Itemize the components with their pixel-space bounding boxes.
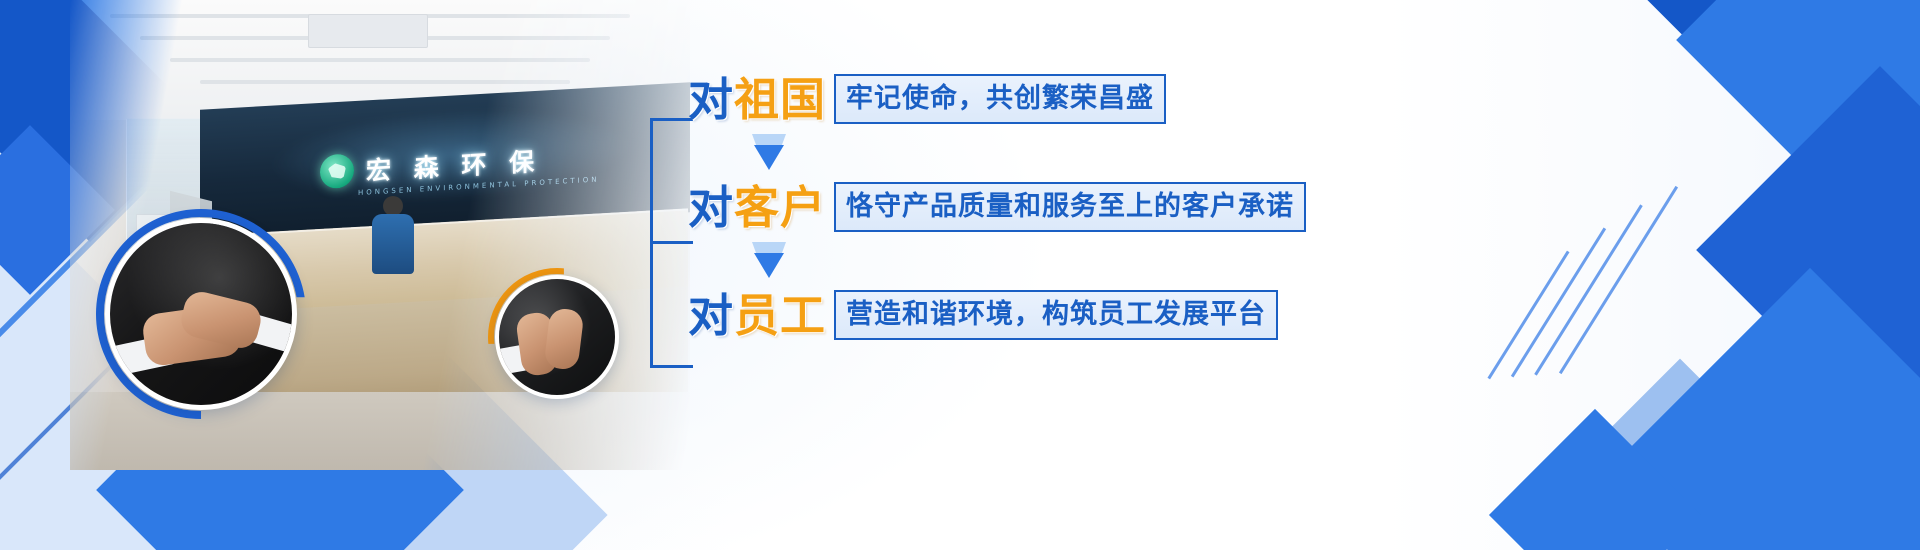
slogan-lead-keyword: 客户 — [734, 185, 826, 230]
hand-right — [543, 307, 584, 371]
slogan-statement-customer: 恪守产品质量和服务至上的客户承诺 — [834, 182, 1306, 232]
slogan-statement-country: 牢记使命，共创繁荣昌盛 — [834, 74, 1166, 124]
slogan-row-country: 对祖国 牢记使命，共创繁荣昌盛 — [688, 70, 1388, 128]
arrow-row-2 — [688, 236, 1388, 286]
applause-photo — [495, 275, 619, 399]
slogan-lead-keyword: 员工 — [734, 293, 826, 338]
slogan-lead-prefix: 对 — [688, 293, 734, 338]
down-arrow-icon — [750, 242, 788, 280]
receptionist-head — [383, 196, 403, 216]
slogan-lead-keyword: 祖国 — [734, 77, 826, 122]
handshake-image — [110, 223, 292, 405]
leaf-globe-logo-icon — [320, 153, 354, 189]
slogan-row-employee: 对员工 营造和谐环境，构筑员工发展平台 — [688, 286, 1388, 344]
slogan-lead-country: 对祖国 — [688, 77, 826, 122]
slogan-block: 对祖国 牢记使命，共创繁荣昌盛 对客户 恪守产品质量和服务至上的客户承诺 — [650, 70, 1350, 400]
slogan-lead-prefix: 对 — [688, 77, 734, 122]
handshake-photo — [105, 218, 297, 410]
slogan-row-customer: 对客户 恪守产品质量和服务至上的客户承诺 — [688, 178, 1388, 236]
slogan-rows: 对祖国 牢记使命，共创繁荣昌盛 对客户 恪守产品质量和服务至上的客户承诺 — [688, 70, 1388, 344]
receptionist-figure — [370, 196, 416, 274]
arrow-bar — [752, 242, 786, 253]
ceiling-line — [170, 58, 590, 62]
bracket-tick-3 — [653, 365, 693, 368]
slogan-lead-customer: 对客户 — [688, 185, 826, 230]
slogan-lead-prefix: 对 — [688, 185, 734, 230]
arrow-row-1 — [688, 128, 1388, 178]
bracket-tick-1 — [653, 118, 693, 121]
ceiling-vent-panel — [308, 14, 428, 48]
applause-image — [499, 279, 615, 395]
connector-bracket — [650, 118, 692, 368]
corporate-culture-banner: 宏 森 环 保 HONGSEN ENVIRONMENTAL PROTECTION — [0, 0, 1920, 550]
ceiling-line — [200, 80, 570, 84]
arrow-bar — [752, 134, 786, 145]
arrow-triangle — [754, 145, 784, 170]
down-arrow-icon — [750, 134, 788, 172]
slogan-lead-employee: 对员工 — [688, 293, 826, 338]
arrow-triangle — [754, 253, 784, 278]
bracket-tick-2 — [653, 241, 693, 244]
receptionist-body — [372, 214, 414, 274]
slogan-statement-employee: 营造和谐环境，构筑员工发展平台 — [834, 290, 1278, 340]
